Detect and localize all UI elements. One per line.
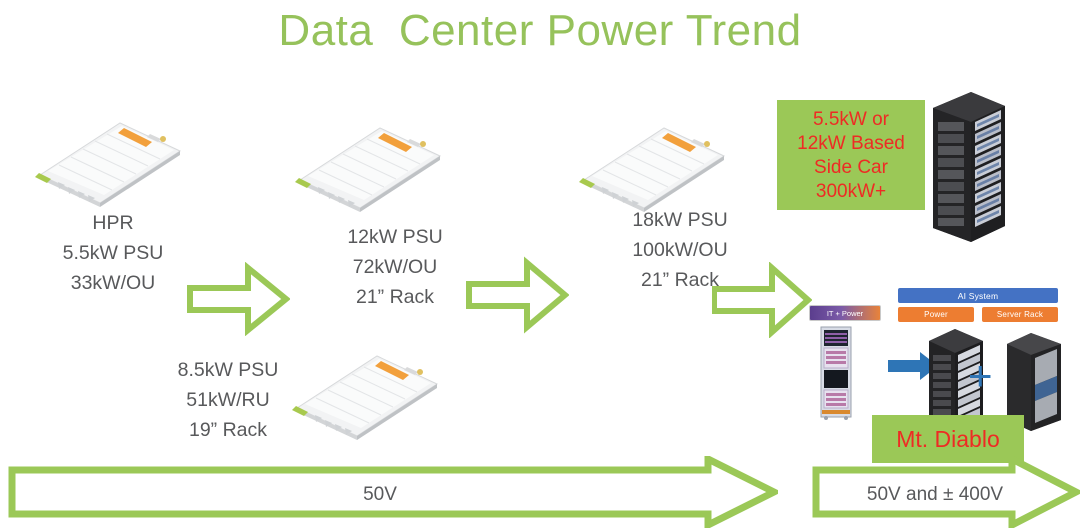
stage-arrow-1-icon [186, 262, 290, 336]
power-bar: Power [898, 307, 974, 322]
sidecar-line-1: 5.5kW or [813, 108, 889, 132]
stage-line: HPR [18, 208, 208, 238]
sidecar-callout: 5.5kW or 12kW Based Side Car 300kW+ [777, 100, 925, 210]
slide-canvas: Data Center Power Trend HPR 5.5kW PSU [0, 0, 1080, 528]
stage-arrow-3-icon [712, 262, 812, 338]
page-title: Data Center Power Trend [0, 6, 1080, 56]
stage-line: 51kW/RU [128, 385, 328, 415]
stage-line: 12kW PSU [295, 222, 495, 252]
voltage-label-right: 50V and ± 400V [830, 484, 1040, 506]
stage-line: 19” Rack [128, 415, 328, 445]
psu-image-hpr [28, 103, 188, 208]
server-rack-bar: Server Rack [982, 307, 1058, 322]
psu-image-18kw [572, 108, 732, 213]
ai-system-bar: AI System [898, 288, 1058, 303]
sidecar-line-3: Side Car [814, 156, 888, 180]
sidecar-line-4: 300kW+ [816, 180, 886, 204]
plus-icon: + [968, 355, 993, 397]
psu-image-12kw [288, 108, 448, 213]
stage-line: 100kW/OU [580, 235, 780, 265]
stage-line: 18kW PSU [580, 205, 780, 235]
voltage-label-left: 50V [280, 484, 480, 506]
stage-line: 8.5kW PSU [128, 355, 328, 385]
stage-arrow-2-icon [465, 256, 569, 334]
stage-caption-8-5kw: 8.5kW PSU 51kW/RU 19” Rack [128, 355, 328, 445]
stage-line: 5.5kW PSU [18, 238, 208, 268]
it-power-rack-image [816, 325, 858, 421]
sidecar-line-2: 12kW Based [797, 132, 905, 156]
it-power-label: IT + Power [809, 305, 881, 321]
stage-caption-hpr: HPR 5.5kW PSU 33kW/OU [18, 208, 208, 298]
server-rack-image-top [925, 86, 1013, 244]
stage-line: 33kW/OU [18, 268, 208, 298]
